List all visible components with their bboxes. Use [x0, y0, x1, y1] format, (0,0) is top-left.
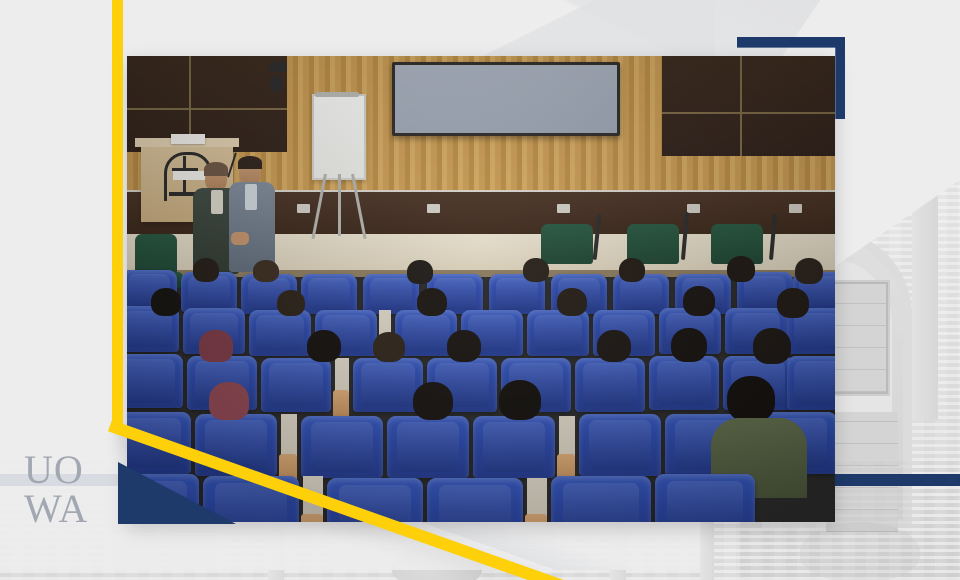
speaker-right-shirt — [245, 184, 257, 210]
audience-head — [619, 258, 645, 282]
audience-head — [199, 330, 233, 362]
logo-line-1: UO — [24, 452, 116, 489]
easel-leg-center — [338, 174, 341, 236]
flipchart-board — [312, 94, 366, 180]
audience-head — [557, 288, 587, 316]
banner-canvas: UO WA — [0, 0, 960, 580]
audience-head — [151, 288, 181, 316]
yellow-accent-stripe-vertical — [112, 0, 123, 430]
audience-head — [373, 332, 405, 362]
logo-line-2: WA — [24, 491, 116, 528]
projection-screen — [392, 62, 620, 136]
audience-head — [683, 286, 715, 316]
audience-head — [209, 382, 249, 420]
speaker-left-hair — [204, 162, 228, 176]
audience-head — [727, 256, 755, 282]
wall-speaker — [270, 76, 282, 92]
audience-head — [413, 382, 453, 420]
audience-head — [795, 258, 823, 284]
audience-head — [499, 380, 541, 420]
speaker-left-shirt — [211, 190, 223, 214]
audience-head — [727, 376, 775, 422]
dark-wall-panel-right — [662, 56, 835, 156]
audience-head — [671, 328, 707, 362]
speaker-right-hair — [238, 156, 262, 169]
uowa-logo: UO WA — [24, 452, 116, 544]
audience-head — [407, 260, 433, 284]
green-chair-1 — [541, 224, 593, 264]
audience-head — [193, 258, 219, 282]
audience-head — [753, 328, 791, 364]
handshake — [231, 232, 249, 245]
audience-head — [277, 290, 305, 316]
audience-head — [777, 288, 809, 318]
audience-head — [417, 288, 447, 316]
auditorium-photo — [127, 56, 835, 522]
audience-head — [307, 330, 341, 362]
audience-head — [253, 260, 279, 282]
flipchart-clip — [315, 92, 359, 97]
ceiling-speaker — [269, 62, 287, 72]
audience-head — [523, 258, 549, 282]
audience-head — [447, 330, 481, 362]
audience-head — [597, 330, 631, 362]
papers-on-shelf — [171, 134, 205, 144]
